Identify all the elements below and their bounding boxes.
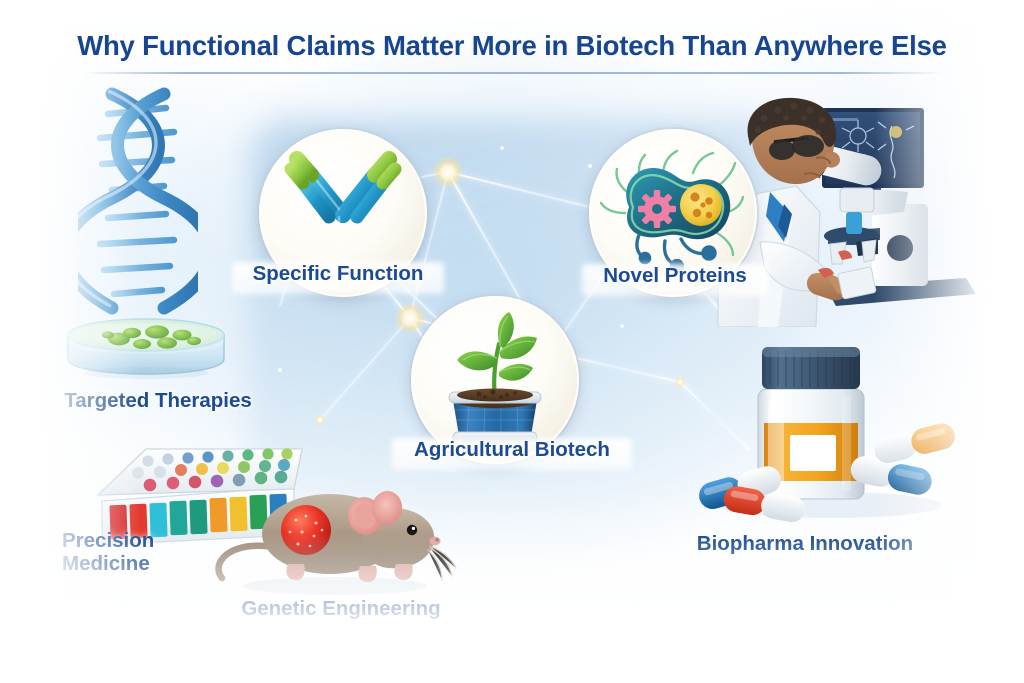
network-node-glow <box>433 157 463 187</box>
page-title: Why Functional Claims Matter More in Bio… <box>0 30 1024 62</box>
infographic-canvas: Specific Function Novel Proteins Agricul… <box>0 0 1024 683</box>
label-novel-proteins: Novel Proteins <box>582 265 768 288</box>
title-divider <box>82 72 942 74</box>
network-node-glow <box>315 415 326 426</box>
label-agricultural-biotech: Agricultural Biotech <box>392 439 632 462</box>
edge-fade-bottom <box>0 533 1024 683</box>
network-node-glow <box>675 377 686 388</box>
label-specific-function: Specific Function <box>232 263 444 286</box>
